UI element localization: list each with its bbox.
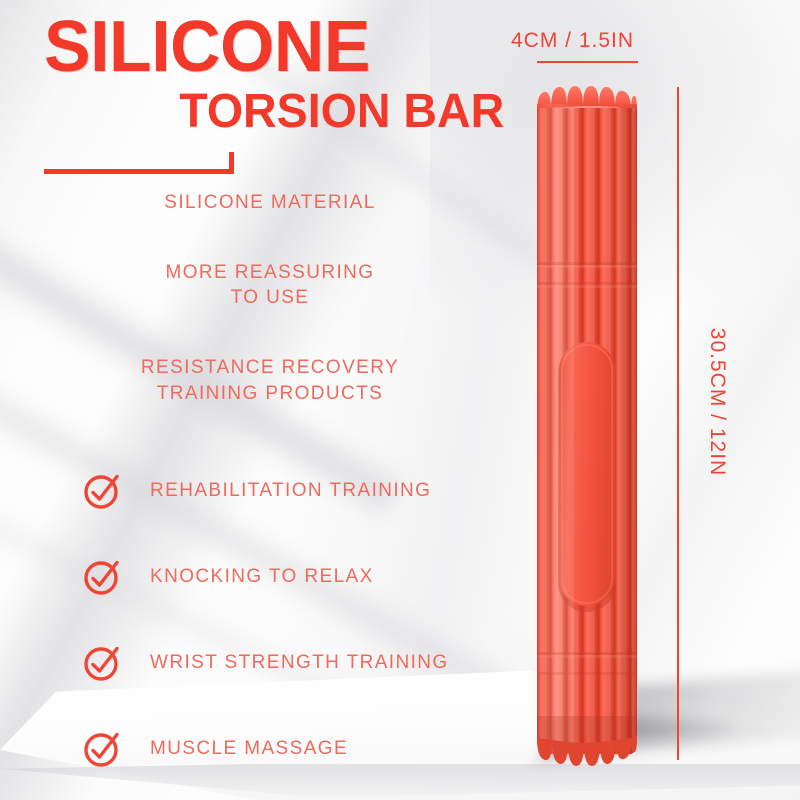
list-item: WRIST STRENGTH TRAINING <box>82 620 502 706</box>
list-item: KNOCKING TO RELAX <box>82 534 502 620</box>
list-item: REHABILITATION TRAINING <box>82 448 502 534</box>
benefit-checklist: REHABILITATION TRAINING KNOCKING TO RELA… <box>82 448 502 792</box>
list-item-label: KNOCKING TO RELAX <box>150 566 374 588</box>
feature-list: SILICONE MATERIAL MORE REASSURING TO USE… <box>75 190 465 450</box>
check-circle-icon <box>82 729 122 769</box>
list-item: MUSCLE MASSAGE <box>82 706 502 792</box>
list-item-label: MUSCLE MASSAGE <box>150 738 348 760</box>
check-circle-icon <box>82 471 122 511</box>
width-dimension-label: 4CM / 1.5IN <box>511 29 634 53</box>
feature-text-2: MORE REASSURING TO USE <box>75 260 465 311</box>
length-dimension-line <box>677 87 679 760</box>
feature-text-3: RESISTANCE RECOVERY TRAINING PRODUCTS <box>75 355 465 406</box>
list-item-label: WRIST STRENGTH TRAINING <box>150 652 449 674</box>
width-dimension-line <box>537 61 638 63</box>
feature-text-1: SILICONE MATERIAL <box>75 190 465 216</box>
length-dimension-label: 30.5CM / 12IN <box>705 307 729 497</box>
product-image <box>536 86 638 766</box>
list-item-label: REHABILITATION TRAINING <box>150 480 431 502</box>
check-circle-icon <box>82 557 122 597</box>
check-circle-icon <box>82 643 122 683</box>
product-marketing-image: SILICONE TORSION BAR SILICONE MATERIAL M… <box>0 0 800 800</box>
